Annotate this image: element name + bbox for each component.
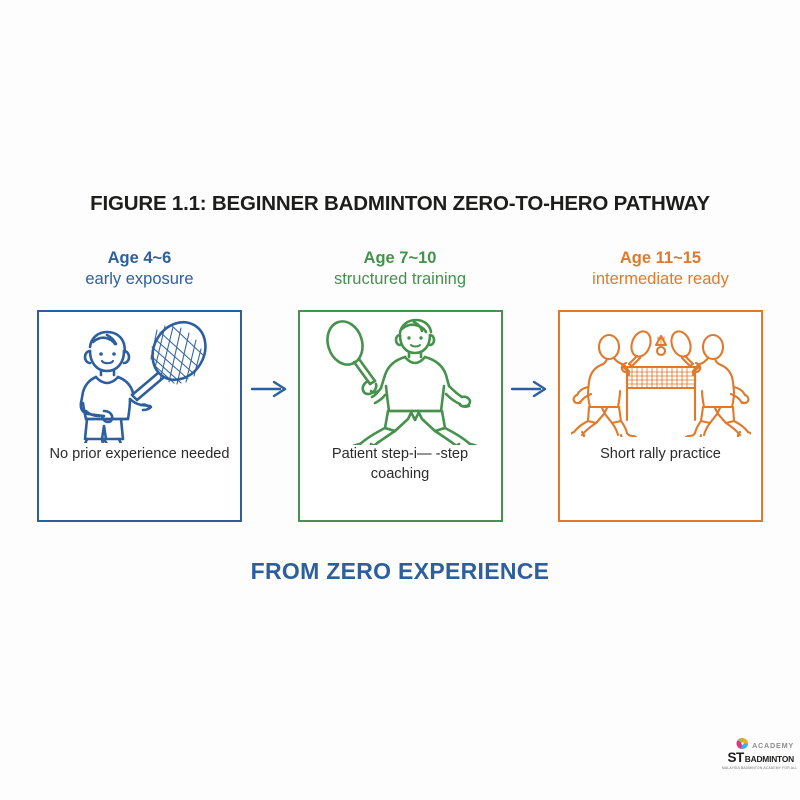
logo-academy-text: ACADEMY — [752, 742, 794, 750]
logo-st-text: ST — [728, 751, 744, 765]
player-ready-stance-icon — [300, 312, 501, 445]
stage-label-2: Age 7~10 structured training — [334, 248, 466, 301]
st-badminton-academy-logo: ACADEMY ST BADMINTON MALAYSIA BADMINTON … — [722, 737, 794, 769]
logo-top-row: ACADEMY — [722, 737, 794, 750]
stage-column-3: Age 11~15 intermediate ready — [556, 248, 765, 522]
stage-card-1[interactable]: No prior experience needed — [37, 310, 242, 522]
child-with-racket-icon — [39, 312, 240, 445]
stage-card-3[interactable]: Short rally practice — [558, 310, 763, 522]
stage-subtitle-2: structured training — [334, 269, 466, 290]
shuttlecock-swirl-icon — [735, 737, 750, 750]
stage-age-2: Age 7~10 — [334, 248, 466, 269]
stage-age-1: Age 4~6 — [85, 248, 193, 269]
arrow-stage-2-to-3 — [505, 248, 556, 530]
page-title: FIGURE 1.1: BEGINNER BADMINTON ZERO-TO-H… — [0, 192, 800, 216]
stage-caption-2: Patient step-i— -step coaching — [300, 445, 501, 484]
stage-subtitle-3: intermediate ready — [592, 269, 729, 290]
stage-label-1: Age 4~6 early exposure — [85, 248, 193, 301]
pathway-stage-row: Age 4~6 early exposure — [35, 248, 765, 530]
arrow-stage-1-to-2 — [244, 248, 295, 530]
stage-age-3: Age 11~15 — [592, 248, 729, 269]
stage-subtitle-1: early exposure — [85, 269, 193, 290]
two-players-net-rally-icon — [560, 312, 761, 445]
stage-caption-1: No prior experience needed — [39, 445, 240, 465]
stage-column-2: Age 7~10 structured training — [296, 248, 505, 522]
footer-tagline: FROM ZERO EXPERIENCE — [0, 558, 800, 585]
infographic-root: FIGURE 1.1: BEGINNER BADMINTON ZERO-TO-H… — [0, 0, 800, 800]
logo-badminton-text: BADMINTON — [745, 755, 794, 763]
stage-card-2[interactable]: Patient step-i— -step coaching — [298, 310, 503, 522]
stage-label-3: Age 11~15 intermediate ready — [592, 248, 729, 301]
stage-column-1: Age 4~6 early exposure — [35, 248, 244, 522]
logo-tagline-text: MALAYSIA BADMINTON ACADEMY FOR ALL — [722, 766, 794, 770]
stage-caption-3: Short rally practice — [560, 445, 761, 465]
logo-main-row: ST BADMINTON — [722, 751, 794, 765]
